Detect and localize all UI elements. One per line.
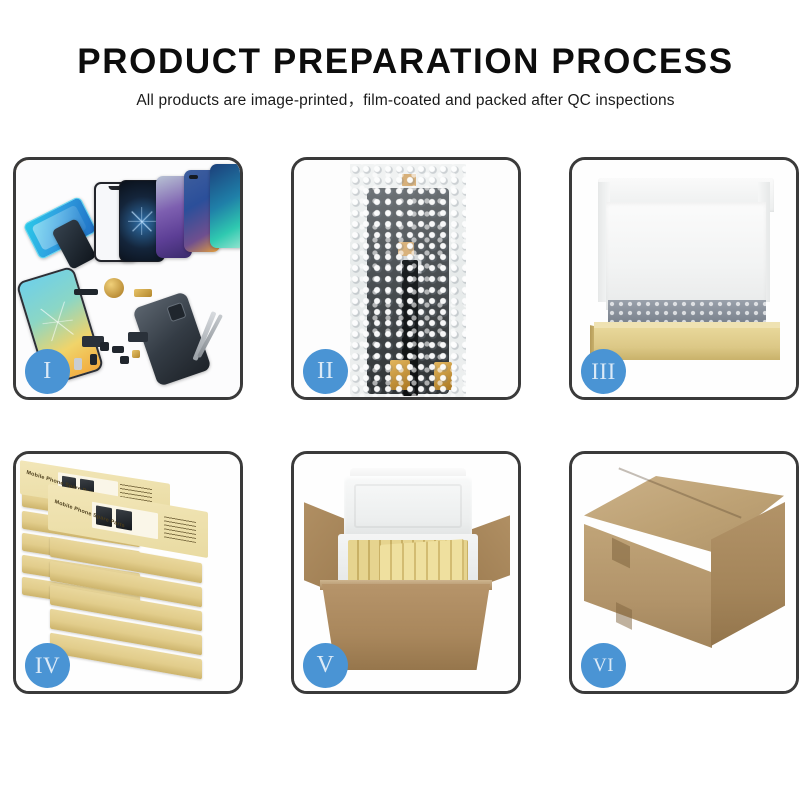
step-badge-3: III [581,349,626,394]
retail-label-spec-text-front [164,515,196,543]
flex-cable-2 [128,332,148,342]
page-title: PRODUCT PREPARATION PROCESS [0,42,811,82]
foam-box-lid [344,476,472,540]
process-steps-grid: I II [13,157,799,734]
box-lid-panel [606,202,766,310]
product-preparation-infographic: PRODUCT PREPARATION PROCESS All products… [0,0,811,811]
step-badge-2: II [303,349,348,394]
carton-front-wall [322,584,490,670]
step-panel-6[interactable]: VI [569,451,799,694]
step-panel-2[interactable]: II [291,157,521,400]
step-panel-1[interactable]: I [13,157,243,400]
step-badge-1: I [25,349,70,394]
small-part-3 [90,354,97,365]
bubble-wrap-package [350,164,466,397]
step-panel-4[interactable]: Mobile Phone Spare Parts Mobile Pho [13,451,243,694]
battery-connector-strip [74,289,98,295]
phone-teal-display [210,164,240,248]
flex-cable-gold [134,289,152,297]
step-panel-5[interactable]: V [291,451,521,694]
step-badge-4: IV [25,643,70,688]
box-base-front [594,328,780,360]
step-badge-6: VI [581,643,626,688]
bubble-texture-overlay [350,164,466,397]
header: PRODUCT PREPARATION PROCESS All products… [0,42,811,111]
page-subtitle: All products are image-printed，film-coat… [0,91,811,111]
small-part-1 [100,342,109,351]
small-part-4 [120,356,129,364]
small-part-2 [112,346,124,353]
step-badge-5: V [303,643,348,688]
speaker-component [104,278,124,298]
step-panel-3[interactable]: III [569,157,799,400]
small-part-6 [74,358,82,370]
small-part-5 [132,350,140,358]
